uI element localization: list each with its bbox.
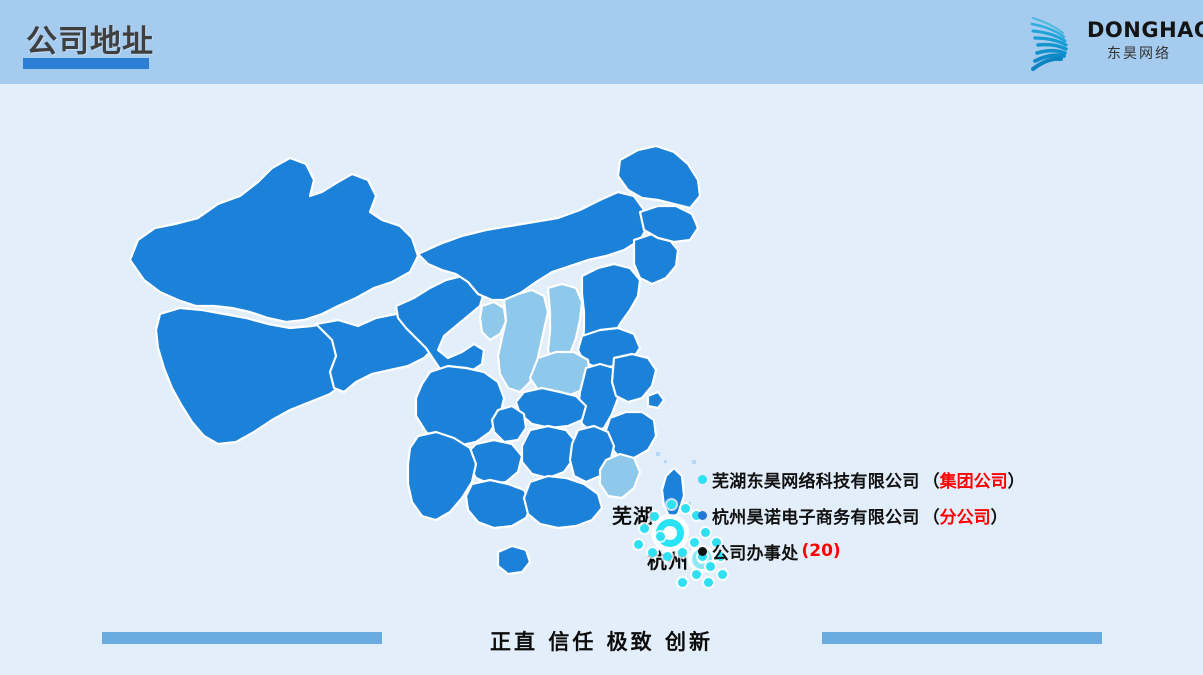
legend-item-branch-company: 杭州昊诺电子商务有限公司 （分公司） (698, 497, 1118, 533)
legend-label: 芜湖东昊网络科技有限公司 (712, 467, 920, 492)
office-dot[interactable] (667, 500, 676, 509)
legend-item-group-company: 芜湖东昊网络科技有限公司 （集团公司） (698, 461, 1118, 497)
legend-bullet-icon (698, 547, 707, 556)
legend-tag-value: 分公司 (940, 508, 991, 528)
legend: 芜湖东昊网络科技有限公司 （集团公司） 杭州昊诺电子商务有限公司 （分公司） 公… (698, 461, 1118, 569)
logo-name-cn: 东昊网络 (1087, 47, 1191, 61)
office-dot[interactable] (692, 570, 701, 579)
province-guangxi (466, 480, 532, 528)
china-map[interactable]: 芜湖 杭州 (100, 100, 720, 610)
province-hainan (498, 546, 530, 574)
office-dot[interactable] (640, 524, 649, 533)
title-underline (23, 58, 149, 69)
legend-bullet-icon (698, 475, 707, 484)
legend-tag-close: ） (1008, 472, 1025, 492)
province-yunnan (408, 432, 476, 520)
legend-tag-open: （ (923, 508, 940, 528)
office-dot[interactable] (648, 548, 657, 557)
legend-bullet-icon (698, 511, 707, 520)
china-map-svg (100, 100, 720, 610)
company-logo: DONGHAO 东昊网络 (1015, 6, 1191, 78)
office-dot[interactable] (678, 578, 687, 587)
legend-tag: （分公司） (923, 503, 1008, 528)
office-dot[interactable] (704, 578, 713, 587)
logo-text: DONGHAO 东昊网络 (1087, 20, 1191, 61)
office-dot[interactable] (656, 532, 665, 541)
office-dot[interactable] (718, 570, 727, 579)
province-fujian (600, 454, 640, 498)
legend-item-offices: 公司办事处 (20) (698, 533, 1118, 569)
province-chongqing (492, 406, 526, 442)
office-dot[interactable] (650, 512, 659, 521)
page-title: 公司地址 (26, 16, 154, 61)
office-dot[interactable] (678, 548, 687, 557)
province-hunan (522, 426, 576, 478)
legend-label: 杭州昊诺电子商务有限公司 (712, 503, 920, 528)
slide-company-address: 公司地址 DONGHAO 东昊网络 (0, 0, 1203, 675)
feather-wing-icon (1021, 8, 1087, 74)
office-dot[interactable] (634, 540, 643, 549)
office-dot[interactable] (681, 504, 690, 513)
province-hubei (516, 388, 586, 428)
footer-bar-right (822, 632, 1102, 644)
legend-tag-open: （ (923, 472, 940, 492)
province-shanghai (648, 392, 664, 408)
legend-tag-value: (20) (802, 541, 841, 561)
legend-tag-value: 集团公司 (940, 472, 1008, 492)
legend-tag: (20) (802, 541, 841, 561)
legend-tag-close: ） (991, 508, 1008, 528)
logo-name-en: DONGHAO (1087, 20, 1191, 41)
legend-label: 公司办事处 (712, 539, 799, 564)
province-guangdong (524, 476, 602, 528)
province-xinjiang (130, 158, 418, 322)
office-dot[interactable] (663, 552, 672, 561)
legend-tag: （集团公司） (923, 467, 1025, 492)
